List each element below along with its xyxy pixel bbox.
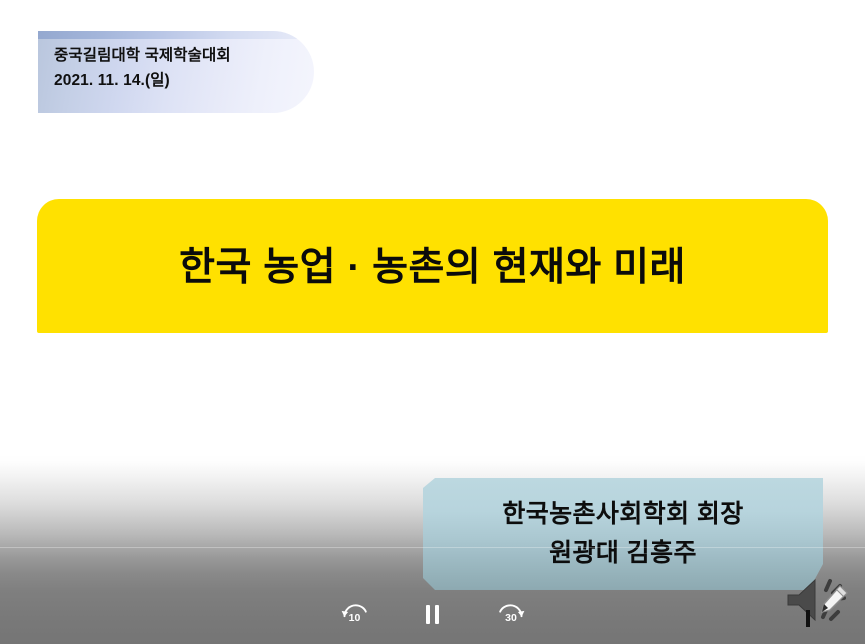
forward-30-button[interactable]: 30 xyxy=(494,597,528,631)
pause-icon xyxy=(426,605,439,624)
playback-controls: 10 30 xyxy=(0,584,865,644)
conference-badge-stripe xyxy=(38,31,314,39)
forward-30-icon xyxy=(496,601,526,627)
speaker-pencil-icon xyxy=(778,574,856,632)
conference-badge: 중국길림대학 국제학술대회 2021. 11. 14.(일) xyxy=(38,31,314,113)
presenter-box: 한국농촌사회학회 회장 원광대 김흥주 xyxy=(423,478,823,590)
volume-annotate-button[interactable] xyxy=(778,574,856,632)
rewind-10-icon xyxy=(340,601,370,627)
conference-badge-text: 중국길림대학 국제학술대회 2021. 11. 14.(일) xyxy=(54,43,306,93)
presenter-box-seam xyxy=(423,547,823,548)
slide-title-band: 한국 농업 · 농촌의 현재와 미래 xyxy=(37,199,828,333)
play-pause-button[interactable] xyxy=(416,597,450,631)
video-player: 중국길림대학 국제학술대회 2021. 11. 14.(일) 한국 농업 · 농… xyxy=(0,0,865,644)
rewind-10-button[interactable]: 10 xyxy=(338,597,372,631)
slide-title: 한국 농업 · 농촌의 현재와 미래 xyxy=(179,245,686,292)
presenter-name: 원광대 김흥주 xyxy=(549,540,697,568)
presenter-affiliation: 한국농촌사회학회 회장 xyxy=(502,501,743,529)
